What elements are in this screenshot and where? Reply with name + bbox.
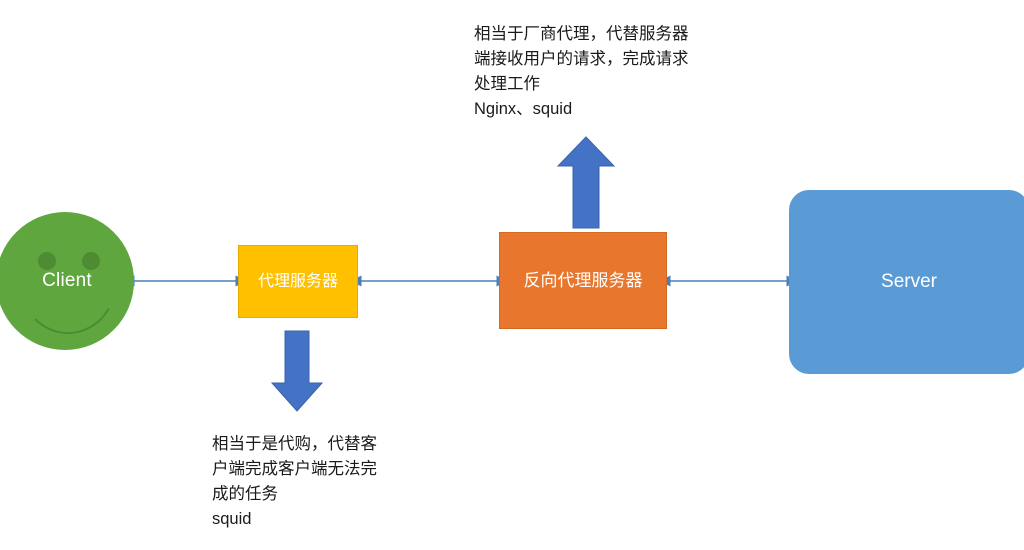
node-client-label: Client bbox=[0, 269, 134, 293]
diagram-canvas: Client 代理服务器 反向代理服务器 Server 相当于厂商代理，代替服务… bbox=[0, 0, 1024, 550]
node-client[interactable]: Client bbox=[0, 212, 134, 350]
node-proxy-server[interactable]: 代理服务器 bbox=[238, 245, 358, 318]
eye-right-icon bbox=[82, 252, 100, 270]
node-reverse-proxy-server-label: 反向代理服务器 bbox=[524, 270, 643, 291]
node-server-label: Server bbox=[881, 270, 937, 294]
up-block-arrow bbox=[558, 137, 614, 228]
annotation-forward-proxy: 相当于是代购，代替客户端完成客户端无法完成的任务 squid bbox=[212, 432, 392, 532]
node-reverse-proxy-server[interactable]: 反向代理服务器 bbox=[499, 232, 667, 329]
annotation-reverse-proxy: 相当于厂商代理，代替服务器端接收用户的请求，完成请求处理工作 Nginx、squ… bbox=[474, 22, 689, 122]
down-block-arrow bbox=[272, 331, 322, 411]
node-server[interactable]: Server bbox=[789, 190, 1024, 374]
node-proxy-server-label: 代理服务器 bbox=[258, 272, 338, 292]
eye-left-icon bbox=[38, 252, 56, 270]
